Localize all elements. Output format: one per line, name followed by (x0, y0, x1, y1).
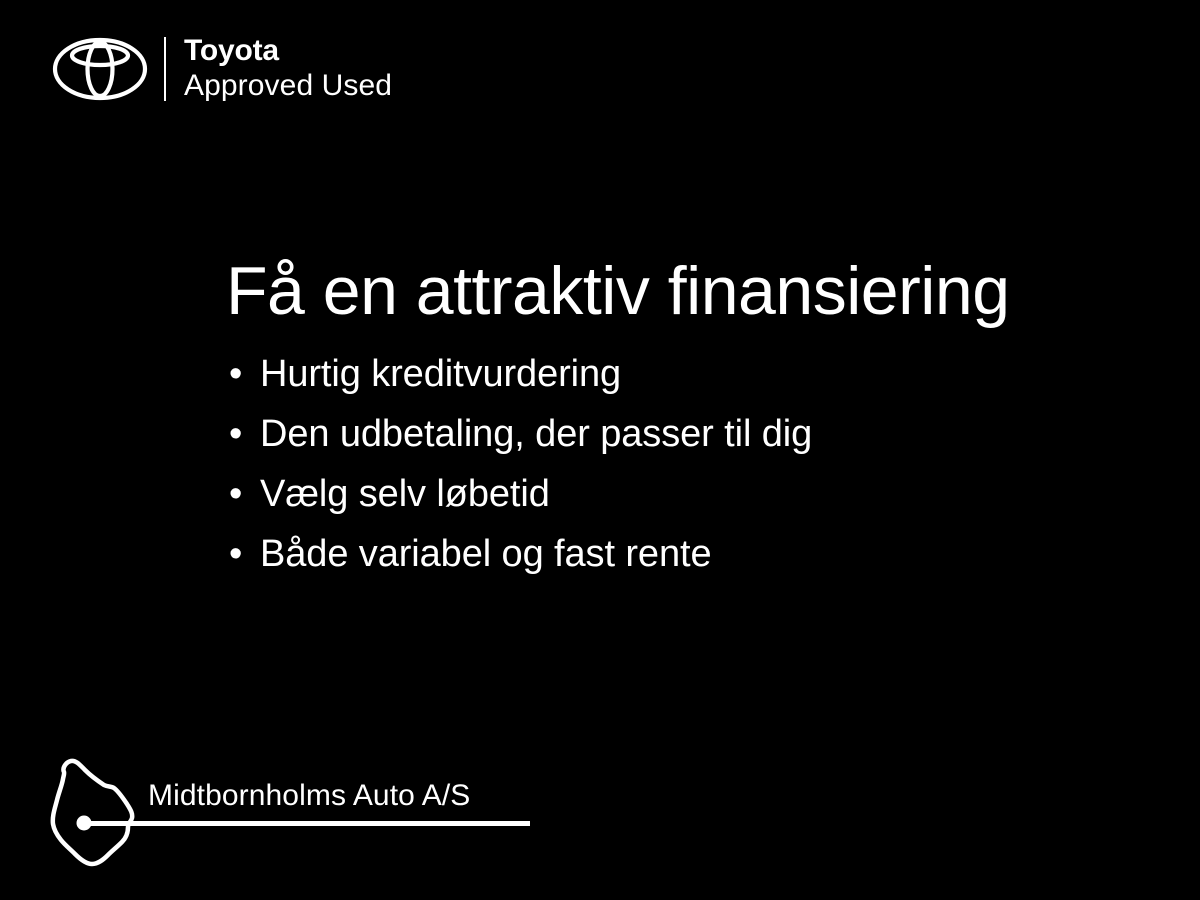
list-item-label: Vælg selv løbetid (260, 464, 550, 524)
main-content: Få en attraktiv finansiering • Hurtig kr… (226, 252, 1106, 584)
slide-root: Toyota Approved Used Få en attraktiv fin… (0, 0, 1200, 900)
list-item: • Både variabel og fast rente (226, 524, 1106, 584)
vertical-divider-icon (164, 37, 166, 101)
brand-text-block: Toyota Approved Used (184, 34, 392, 104)
list-item-label: Den udbetaling, der passer til dig (260, 404, 812, 464)
bullet-dot-icon: • (226, 344, 260, 404)
list-item-label: Hurtig kreditvurdering (260, 344, 621, 404)
bullet-dot-icon: • (226, 464, 260, 524)
benefits-list: • Hurtig kreditvurdering • Den udbetalin… (226, 344, 1106, 584)
horizontal-rule-icon (84, 821, 530, 826)
brand-subline: Approved Used (184, 68, 392, 104)
bornholm-island-outline-icon (38, 752, 148, 872)
list-item: • Vælg selv løbetid (226, 464, 1106, 524)
list-item: • Den udbetaling, der passer til dig (226, 404, 1106, 464)
bullet-dot-icon: • (226, 404, 260, 464)
brand-name: Toyota (184, 34, 392, 68)
list-item: • Hurtig kreditvurdering (226, 344, 1106, 404)
dealer-lockup: Midtbornholms Auto A/S (38, 752, 558, 872)
toyota-brand-lockup: Toyota Approved Used (52, 34, 392, 104)
page-title: Få en attraktiv finansiering (226, 252, 1106, 330)
list-item-label: Både variabel og fast rente (260, 524, 711, 584)
dealer-name: Midtbornholms Auto A/S (148, 776, 470, 816)
bullet-dot-icon: • (226, 524, 260, 584)
toyota-ellipses-logo-icon (52, 37, 148, 101)
